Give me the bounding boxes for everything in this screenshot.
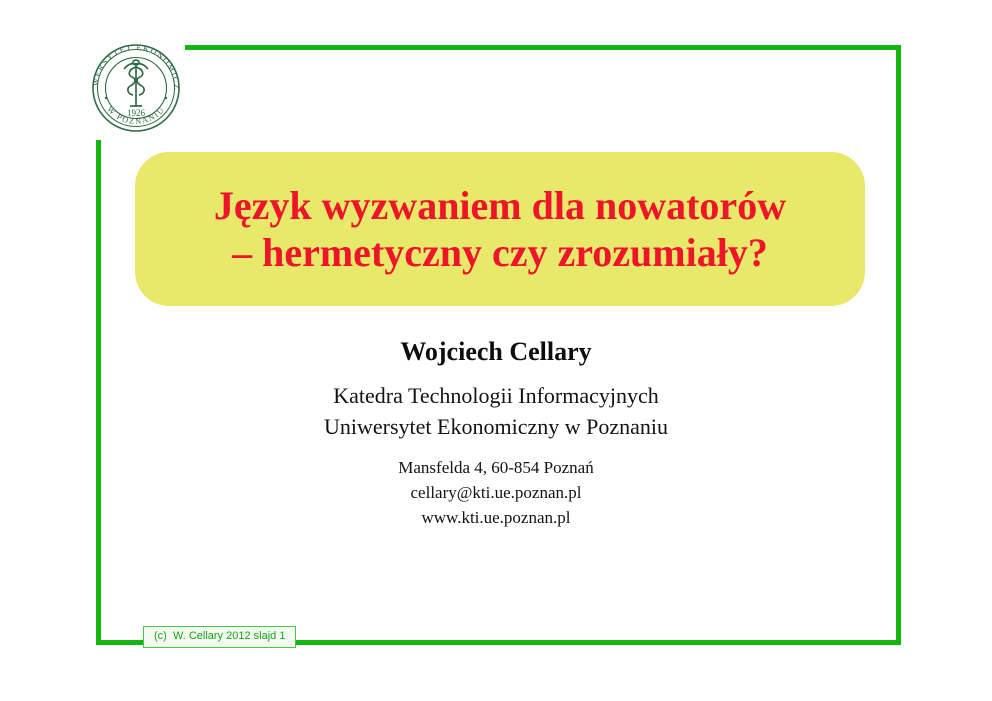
title-plate: Język wyzwaniem dla nowatorów – hermetyc… xyxy=(135,152,865,306)
author-affiliation: Katedra Technologii Informacyjnych Uniwe… xyxy=(0,380,992,442)
affiliation-line-2: Uniwersytet Ekonomiczny w Poznaniu xyxy=(0,411,992,442)
author-name: Wojciech Cellary xyxy=(0,336,992,367)
presentation-slide: UNIWERSYTET EKONOMICZNY W POZNANIU 1926 xyxy=(0,0,992,701)
svg-text:1926: 1926 xyxy=(127,108,146,118)
contact-address: Mansfelda 4, 60-854 Poznań xyxy=(0,455,992,480)
footer-copyright-badge: (c) W. Cellary 2012 slajd 1 xyxy=(143,626,296,648)
university-seal-icon: UNIWERSYTET EKONOMICZNY W POZNANIU 1926 xyxy=(84,36,188,140)
slide-title: Język wyzwaniem dla nowatorów – hermetyc… xyxy=(200,182,800,276)
frame-border-top xyxy=(185,45,901,50)
affiliation-line-1: Katedra Technologii Informacyjnych xyxy=(0,380,992,411)
author-contact: Mansfelda 4, 60-854 Poznań cellary@kti.u… xyxy=(0,455,992,530)
contact-website: www.kti.ue.poznan.pl xyxy=(0,505,992,530)
contact-email: cellary@kti.ue.poznan.pl xyxy=(0,480,992,505)
